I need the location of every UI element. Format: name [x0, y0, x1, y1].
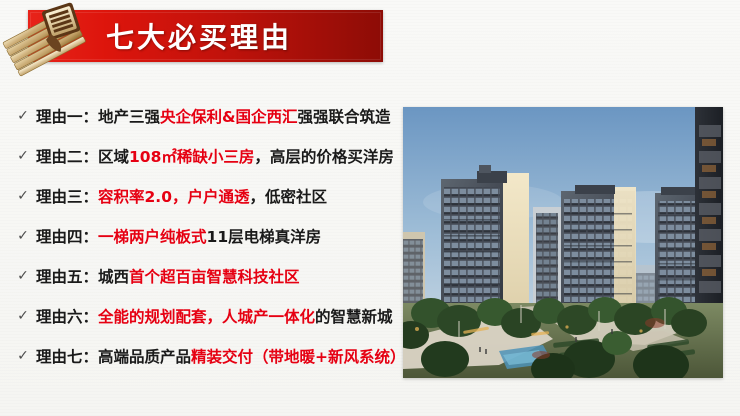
- reason-list: ✓ 理由一：地产三强央企保利&国企西汇强强联合筑造 ✓ 理由二：区域108㎡稀缺…: [10, 96, 402, 376]
- list-item: ✓ 理由七：高端品质产品精装交付（带地暖+新风系统）: [10, 336, 402, 376]
- reason-1-text: 理由一：地产三强央企保利&国企西汇强强联合筑造: [36, 105, 391, 127]
- reason-2-text: 理由二：区域108㎡稀缺小三房，高层的价格买洋房: [36, 145, 394, 167]
- reason-3-text: 理由三：容积率2.0，户户通透，低密社区: [36, 185, 327, 207]
- reason-7-text: 理由七：高端品质产品精装交付（带地暖+新风系统）: [36, 345, 406, 367]
- check-icon: ✓: [10, 349, 36, 363]
- reason-4-text: 理由四：一梯两户纯板式11层电梯真洋房: [36, 225, 321, 247]
- list-item: ✓ 理由六：全能的规划配套，人城产一体化的智慧新城: [10, 296, 402, 336]
- check-icon: ✓: [10, 229, 36, 243]
- reason-6-text: 理由六：全能的规划配套，人城产一体化的智慧新城: [36, 305, 393, 327]
- list-item: ✓ 理由四：一梯两户纯板式11层电梯真洋房: [10, 216, 402, 256]
- check-icon: ✓: [10, 149, 36, 163]
- check-icon: ✓: [10, 109, 36, 123]
- check-icon: ✓: [10, 269, 36, 283]
- residential-complex-rendering: [403, 107, 723, 378]
- list-item: ✓ 理由二：区域108㎡稀缺小三房，高层的价格买洋房: [10, 136, 402, 176]
- title-banner: 七大必买理由: [28, 10, 383, 62]
- check-icon: ✓: [10, 309, 36, 323]
- list-item: ✓ 理由一：地产三强央企保利&国企西汇强强联合筑造: [10, 96, 402, 136]
- list-item: ✓ 理由五：城西首个超百亩智慧科技社区: [10, 256, 402, 296]
- list-item: ✓ 理由三：容积率2.0，户户通透，低密社区: [10, 176, 402, 216]
- reason-5-text: 理由五：城西首个超百亩智慧科技社区: [36, 265, 300, 287]
- page-title: 七大必买理由: [106, 16, 292, 56]
- check-icon: ✓: [10, 189, 36, 203]
